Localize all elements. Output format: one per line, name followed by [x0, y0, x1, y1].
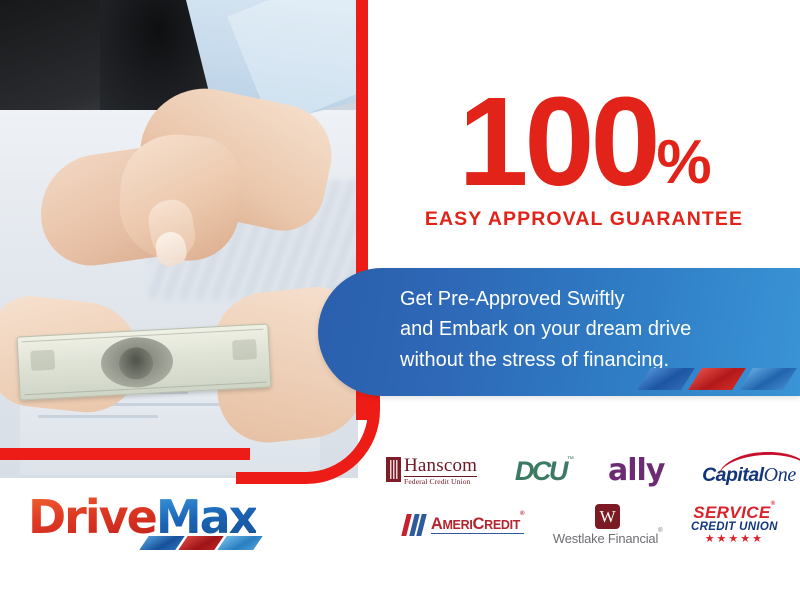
logo-westlake-financial: W Westlake Financial®: [553, 504, 663, 546]
headline-tagline: EASY APPROVAL GUARANTEE: [368, 208, 800, 231]
westlake-trademark: ®: [658, 528, 662, 534]
chevron-red-icon: [688, 368, 746, 390]
service-cu-stars-icon: ★★★★★: [705, 534, 764, 545]
americredit-name-3: C: [473, 515, 485, 533]
logo-swoosh-icon: [144, 536, 258, 550]
dcu-trademark: ™: [567, 456, 572, 463]
headline-block: 100% EASY APPROVAL GUARANTEE: [368, 82, 800, 231]
westlake-monogram-icon: W: [595, 504, 620, 529]
capital-one-swoosh-icon: [718, 450, 800, 478]
americredit-name: AMERICREDIT®: [431, 516, 524, 535]
headline-number-value: 100: [458, 71, 656, 212]
percent-symbol: %: [657, 128, 710, 197]
service-cu-name-2: CREDIT UNION: [691, 522, 778, 534]
logo-americredit: AMERICREDIT®: [404, 514, 524, 536]
callout-line-1: Get Pre-Approved Swiftly: [400, 284, 760, 314]
logo-service-credit-union: SERVICE® CREDIT UNION ★★★★★: [691, 504, 778, 545]
callout-panel: Get Pre-Approved Swiftly and Embark on y…: [318, 268, 800, 396]
service-cu-name-1: SERVICE®: [693, 504, 775, 521]
logo-text-drive: Drive: [28, 490, 156, 544]
americredit-slashes-icon: [404, 514, 427, 536]
hanscom-emblem-icon: [386, 457, 401, 482]
drivemax-logo[interactable]: DriveMax: [28, 494, 256, 540]
ally-name: ally: [608, 456, 664, 486]
photo-hundred-dollar-bill: [16, 323, 271, 400]
westlake-name: Westlake Financial®: [553, 531, 663, 546]
logo-hanscom: Hanscom Federal Credit Union: [386, 456, 477, 486]
lender-row-1: Hanscom Federal Credit Union DCU™ ally C…: [386, 444, 796, 498]
callout-line-2: and Embark on your dream drive: [400, 314, 760, 344]
hanscom-name: Hanscom: [404, 456, 477, 475]
americredit-name-1: A: [431, 515, 443, 533]
lender-logos: Hanscom Federal Credit Union DCU™ ally C…: [386, 444, 796, 552]
logo-dcu: DCU™: [515, 456, 571, 487]
callout-text: Get Pre-Approved Swiftly and Embark on y…: [400, 284, 760, 375]
service-cu-trademark: ®: [771, 501, 776, 507]
americredit-name-4: REDIT: [484, 518, 520, 532]
lender-row-2: AMERICREDIT® W Westlake Financial® SERVI…: [386, 498, 796, 552]
dcu-name: DCU: [515, 456, 566, 487]
red-bottom-stripe: [0, 448, 250, 460]
chevron-blue-2-icon: [739, 368, 797, 390]
logo-capital-one: CapitalOne: [702, 455, 796, 487]
chevron-blue-1-icon: [637, 368, 695, 390]
callout-chevron-accents: [644, 368, 790, 390]
hanscom-subtitle: Federal Credit Union: [404, 476, 477, 486]
americredit-name-2: MERI: [442, 518, 472, 532]
service-cu-name-1-text: SERVICE: [693, 503, 770, 522]
promo-banner: 100% EASY APPROVAL GUARANTEE Get Pre-App…: [0, 0, 800, 600]
westlake-name-text: Westlake Financial: [553, 531, 658, 546]
americredit-trademark: ®: [520, 511, 524, 517]
logo-ally: ally: [608, 456, 664, 486]
headline-number: 100%: [458, 82, 709, 202]
